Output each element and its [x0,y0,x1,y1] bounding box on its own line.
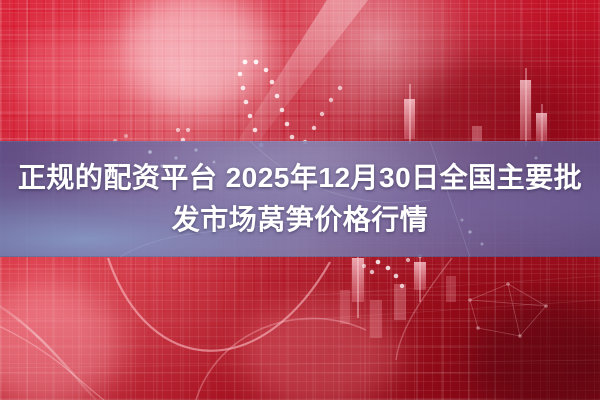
title-line-1: 正规的配资平台 2025年12月30日全国主要批 [18,158,582,198]
trend-curve-left-2 [0,322,104,400]
node-network-right [470,284,546,336]
node-network-right-dots [468,282,548,338]
title-line-2: 发市场莴笋价格行情 [172,200,429,240]
scanline-group [0,276,600,368]
banner-image: 正规的配资平台 2025年12月30日全国主要批 发市场莴笋价格行情 [0,0,600,400]
light-ray [232,0,372,150]
trend-curve-arc-right [196,318,366,400]
candlestick-bars-top [404,68,547,146]
trend-curve-u [108,258,330,351]
trend-curve-left [0,300,96,400]
title-band: 正规的配资平台 2025年12月30日全国主要批 发市场莴笋价格行情 [0,141,600,257]
dotted-trend-line-bottom [362,254,422,288]
